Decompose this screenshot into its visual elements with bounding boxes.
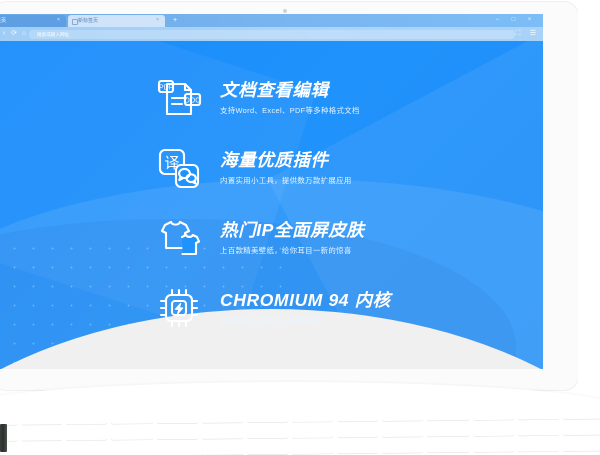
close-icon[interactable]: × bbox=[155, 18, 160, 23]
key bbox=[382, 441, 423, 453]
new-tab-button[interactable]: + bbox=[171, 17, 179, 25]
key bbox=[247, 442, 288, 454]
key bbox=[472, 424, 513, 436]
key bbox=[563, 410, 600, 419]
key bbox=[518, 410, 559, 420]
key bbox=[292, 426, 333, 438]
key bbox=[202, 426, 243, 438]
feature-subtitle: 上百款精美壁纸，给你耳目一新的惊喜 bbox=[220, 245, 364, 256]
keyboard-row bbox=[0, 439, 600, 455]
minimize-icon[interactable]: − bbox=[494, 16, 501, 25]
page-right-margin bbox=[578, 0, 600, 455]
feature-item[interactable]: CHROMIUM 94 内核 更强性能，体验飞一般的感觉 bbox=[0, 273, 543, 343]
tab-title: 新标签页 bbox=[0, 18, 6, 24]
key bbox=[111, 411, 152, 423]
key bbox=[21, 444, 62, 455]
feature-text: CHROMIUM 94 内核 更强性能，体验飞一般的感觉 bbox=[220, 290, 391, 326]
feature-text: 文档查看编辑 支持Word、Excel、PDF等多种格式文档 bbox=[220, 80, 360, 116]
forward-icon[interactable]: › bbox=[0, 30, 8, 38]
tshirt-skin-icon bbox=[153, 212, 205, 264]
svg-text:PDF: PDF bbox=[159, 84, 173, 91]
key bbox=[427, 440, 468, 452]
feature-subtitle: 内置实用小工具，提供数万款扩展应用 bbox=[220, 175, 352, 186]
key bbox=[21, 412, 62, 424]
key bbox=[518, 439, 559, 451]
key bbox=[518, 423, 559, 435]
address-bar[interactable]: 搜索或输入网址 bbox=[29, 30, 515, 39]
key bbox=[202, 410, 243, 422]
key bbox=[472, 410, 513, 420]
maximize-icon[interactable]: □ bbox=[510, 16, 517, 25]
feature-title: 文档查看编辑 bbox=[220, 80, 360, 100]
feature-subtitle: 支持Word、Excel、PDF等多种格式文档 bbox=[220, 105, 360, 116]
browser-tab-2[interactable]: 新标签页 × bbox=[68, 15, 165, 27]
feature-text: 热门IP全面屏皮肤 上百款精美壁纸，给你耳目一新的惊喜 bbox=[220, 220, 364, 256]
feature-title: 海量优质插件 bbox=[220, 150, 352, 170]
home-icon[interactable]: ⌂ bbox=[20, 30, 28, 38]
tab-title: 新标签页 bbox=[78, 18, 98, 24]
close-window-icon[interactable]: × bbox=[526, 16, 533, 25]
feature-list: PDF DOC 文档查看编辑 支持Word、Excel、PDF等多种格式文档 bbox=[0, 63, 543, 343]
key bbox=[247, 426, 288, 438]
feature-item[interactable]: 译 海量优质插件 内置实用小工具，提供数万款扩展应用 bbox=[0, 133, 543, 203]
key bbox=[382, 410, 423, 421]
key bbox=[472, 440, 513, 452]
key bbox=[66, 444, 107, 455]
browser-tab-1[interactable]: 新标签页 × bbox=[0, 15, 66, 27]
webcam-icon bbox=[283, 9, 287, 13]
laptop-screen: 新标签页 × 新标签页 × + − □ × ‹ › ⟳ ⌂ 搜索或输入网址 bbox=[0, 14, 543, 369]
feature-title: 热门IP全面屏皮肤 bbox=[220, 220, 364, 240]
cpu-chip-bolt-icon bbox=[153, 282, 205, 334]
toolbar-right-actions: ⛶ ☰ bbox=[514, 30, 537, 38]
key bbox=[427, 424, 468, 436]
window-controls: − □ × bbox=[494, 16, 533, 25]
translate-plugin-icon: 译 bbox=[153, 142, 205, 194]
laptop-keyboard bbox=[0, 410, 600, 455]
feature-item[interactable]: PDF DOC 文档查看编辑 支持Word、Excel、PDF等多种格式文档 bbox=[0, 63, 543, 133]
address-bar-placeholder: 搜索或输入网址 bbox=[37, 30, 69, 39]
key bbox=[202, 442, 243, 454]
key bbox=[563, 439, 600, 451]
key bbox=[337, 441, 378, 453]
key bbox=[111, 443, 152, 455]
key bbox=[382, 425, 423, 437]
feature-text: 海量优质插件 内置实用小工具，提供数万款扩展应用 bbox=[220, 150, 352, 186]
key bbox=[21, 428, 62, 440]
globe-icon bbox=[72, 19, 78, 25]
key bbox=[337, 425, 378, 437]
key bbox=[157, 411, 198, 423]
document-pdf-doc-icon: PDF DOC bbox=[153, 72, 205, 124]
newtab-page: PDF DOC 文档查看编辑 支持Word、Excel、PDF等多种格式文档 bbox=[0, 41, 543, 369]
key bbox=[337, 410, 378, 422]
svg-text:DOC: DOC bbox=[185, 97, 201, 104]
key bbox=[427, 410, 468, 421]
key bbox=[292, 442, 333, 454]
feature-title: CHROMIUM 94 内核 bbox=[220, 290, 391, 310]
key bbox=[157, 427, 198, 439]
key bbox=[66, 428, 107, 440]
laptop-bezel-right bbox=[543, 14, 578, 369]
key bbox=[563, 423, 600, 435]
device-edge-accessory bbox=[0, 424, 7, 452]
browser-tabstrip: 新标签页 × 新标签页 × + − □ × bbox=[0, 14, 543, 27]
reload-icon[interactable]: ⟳ bbox=[10, 30, 18, 38]
screenshot-root: 新标签页 × 新标签页 × + − □ × ‹ › ⟳ ⌂ 搜索或输入网址 bbox=[0, 0, 600, 455]
key bbox=[157, 443, 198, 455]
key bbox=[247, 410, 288, 422]
key bbox=[66, 412, 107, 424]
key bbox=[292, 410, 333, 422]
close-icon[interactable]: × bbox=[56, 18, 61, 23]
keyboard-row bbox=[0, 423, 600, 442]
feature-item[interactable]: 热门IP全面屏皮肤 上百款精美壁纸，给你耳目一新的惊喜 bbox=[0, 203, 543, 273]
key bbox=[111, 427, 152, 439]
zoom-icon[interactable]: ⛶ bbox=[514, 30, 522, 38]
menu-icon[interactable]: ☰ bbox=[529, 30, 537, 38]
browser-toolbar: ‹ › ⟳ ⌂ 搜索或输入网址 ⛶ ☰ bbox=[0, 27, 543, 41]
feature-subtitle: 更强性能，体验飞一般的感觉 bbox=[220, 315, 391, 326]
